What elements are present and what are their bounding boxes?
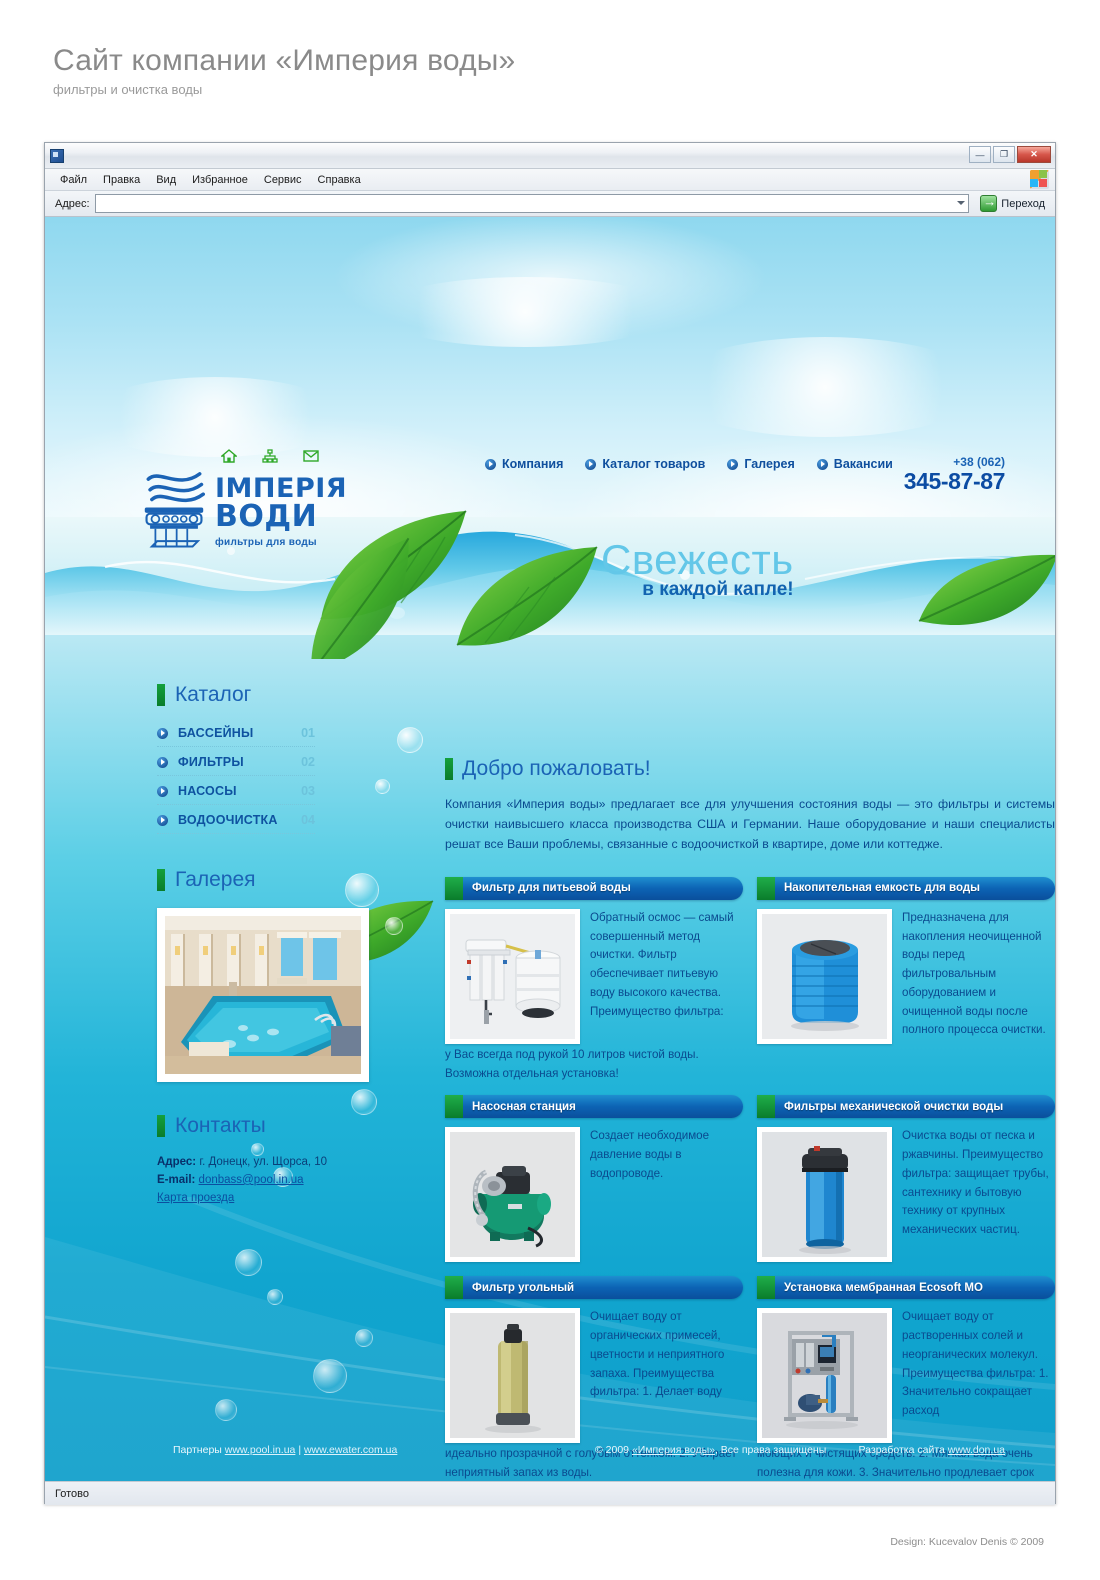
browser-menubar[interactable]: Файл Правка Вид Избранное Сервис Справка xyxy=(45,169,1055,191)
partner-link-ewater[interactable]: www.ewater.com.ua xyxy=(304,1444,397,1456)
developer-link[interactable]: www.don.ua xyxy=(948,1444,1005,1456)
product-image-reverse-osmosis[interactable] xyxy=(450,914,575,1039)
card-title: Установка мембранная Ecosoft MO xyxy=(775,1282,983,1294)
catalog-item-pumps[interactable]: НАСОСЫ 03 xyxy=(157,781,315,805)
product-card[interactable]: Фильтры механической очистки воды xyxy=(757,1095,1055,1264)
cloud-shape xyxy=(665,337,985,437)
address-label: Адрес: xyxy=(49,198,90,210)
contacts-heading: Контакты xyxy=(45,1114,375,1138)
phone-prefix: +38 (062) xyxy=(904,455,1005,469)
page-heading: Сайт компании «Империя воды» фильтры и о… xyxy=(53,44,515,97)
footer-partners: Партнеры www.pool.in.ua | www.ewater.com… xyxy=(173,1444,397,1456)
copyright-prefix: © 2009 xyxy=(595,1444,632,1456)
catalog-item-label: ФИЛЬТРЫ xyxy=(178,755,291,769)
partners-label: Партнеры xyxy=(173,1444,222,1456)
cloud-shape xyxy=(375,277,675,347)
utility-icons[interactable] xyxy=(221,449,319,463)
gallery-heading-label: Галерея xyxy=(175,868,256,892)
card-header-tab xyxy=(445,1095,463,1118)
card-header-tab xyxy=(757,1276,775,1299)
contact-address-row: Адрес: г. Донецк, ул. Щорса, 10 xyxy=(157,1154,375,1172)
card-description: Создает необходимое давление воды в водо… xyxy=(590,1127,743,1262)
menu-item-help[interactable]: Справка xyxy=(311,172,368,188)
card-header: Накопительная емкость для воды xyxy=(757,877,1055,900)
gallery-thumbnail[interactable] xyxy=(157,908,369,1082)
product-card[interactable]: Насосная станция xyxy=(445,1095,743,1264)
gallery-heading: Галерея xyxy=(45,868,375,892)
catalog-item-filters[interactable]: ФИЛЬТРЫ 02 xyxy=(157,752,315,776)
site-footer: Партнеры www.pool.in.ua | www.ewater.com… xyxy=(45,1419,1055,1481)
catalog-item-water-treatment[interactable]: ВОДООЧИСТКА 04 xyxy=(157,810,315,834)
catalog-item-number: 04 xyxy=(301,813,315,827)
bubble xyxy=(375,779,390,794)
catalog-item-label: БАССЕЙНЫ xyxy=(178,726,291,740)
card-title: Фильтры механической очистки воды xyxy=(775,1101,1003,1113)
card-header-tab xyxy=(757,1095,775,1118)
play-bullet-icon xyxy=(817,459,828,470)
email-label: E-mail: xyxy=(157,1174,195,1186)
catalog-item-pools[interactable]: БАССЕЙНЫ 01 xyxy=(157,723,315,747)
site-logo[interactable]: ІМПЕРІЯ ВОДИ фильтры для воды xyxy=(143,465,347,550)
address-input-wrap[interactable] xyxy=(95,194,970,213)
card-title: Фильтр угольный xyxy=(463,1282,574,1294)
catalog-list[interactable]: БАССЕЙНЫ 01 ФИЛЬТРЫ 02 НАСОСЫ 03 ВОДООЧИ… xyxy=(45,723,315,834)
welcome-heading-label: Добро пожаловать! xyxy=(462,757,651,781)
slogan-line-1: Свежесть xyxy=(601,539,794,581)
card-body: Создает необходимое давление воды в водо… xyxy=(445,1118,743,1262)
page-title: Сайт компании «Империя воды» xyxy=(53,44,515,78)
card-header-tab xyxy=(445,1276,463,1299)
browser-window: — ❐ ✕ Файл Правка Вид Избранное Сервис С… xyxy=(44,142,1056,1504)
catalog-item-label: ВОДООЧИСТКА xyxy=(178,813,291,827)
play-bullet-icon xyxy=(485,459,496,470)
browser-addressbar[interactable]: Адрес: Переход xyxy=(45,191,1055,217)
play-bullet-icon xyxy=(157,728,168,739)
play-bullet-icon xyxy=(157,815,168,826)
partner-link-pool[interactable]: www.pool.in.ua xyxy=(225,1444,296,1456)
card-title: Накопительная емкость для воды xyxy=(775,882,980,894)
nav-label: Вакансии xyxy=(834,457,893,471)
sidebar: Каталог БАССЕЙНЫ 01 ФИЛЬТРЫ 02 НАСОСЫ 03 xyxy=(45,683,375,1207)
card-thumbnail[interactable] xyxy=(445,909,580,1044)
catalog-item-number: 03 xyxy=(301,784,315,798)
section-marker xyxy=(157,1115,165,1137)
column-waves-logo-icon xyxy=(143,465,205,550)
go-button[interactable]: Переход xyxy=(974,195,1051,212)
product-card[interactable]: Накопительная емкость для воды xyxy=(757,877,1055,1084)
close-button[interactable]: ✕ xyxy=(1017,146,1051,163)
map-link[interactable]: Карта проезда xyxy=(157,1192,234,1204)
card-thumbnail[interactable] xyxy=(757,909,892,1044)
play-bullet-icon xyxy=(727,459,738,470)
card-thumbnail[interactable] xyxy=(445,1127,580,1262)
leaf-decoration xyxy=(907,545,1055,655)
menu-item-tools[interactable]: Сервис xyxy=(257,172,309,188)
footer-copyright: © 2009 «Империя воды», Все права защищен… xyxy=(595,1444,826,1456)
main-navigation[interactable]: Компания Каталог товаров Галерея Ваканси… xyxy=(485,457,893,471)
address-label: Адрес: xyxy=(157,1156,196,1168)
phone-number: 345-87-87 xyxy=(904,469,1005,493)
page-subtitle: фильтры и очистка воды xyxy=(53,82,515,97)
catalog-item-label: НАСОСЫ xyxy=(178,784,291,798)
browser-statusbar: Готово xyxy=(45,1481,1055,1505)
minimize-button[interactable]: — xyxy=(969,146,991,163)
home-icon[interactable] xyxy=(221,449,237,463)
menu-item-file[interactable]: Файл xyxy=(53,172,94,188)
leaf-decoration xyxy=(437,535,627,685)
catalog-heading: Каталог xyxy=(45,683,375,707)
pool-photo[interactable] xyxy=(165,916,361,1074)
card-body: Обратный осмос — самый совершенный метод… xyxy=(445,900,743,1044)
product-card[interactable]: Фильтр для питьевой воды xyxy=(445,877,743,1084)
contact-map-row: Карта проезда xyxy=(157,1190,375,1208)
windows-flag-icon xyxy=(1030,170,1049,189)
contact-phone: +38 (062) 345-87-87 xyxy=(904,455,1005,493)
logo-text: ІМПЕРІЯ ВОДИ фильтры для воды xyxy=(215,476,347,550)
contact-email-row: E-mail: donbass@pool.in.ua xyxy=(157,1172,375,1190)
card-title: Фильтр для питьевой воды xyxy=(463,882,631,894)
card-body: Очистка воды от песка и ржавчины. Преиму… xyxy=(757,1118,1055,1262)
go-arrow-icon[interactable] xyxy=(980,195,997,212)
nav-label: Каталог товаров xyxy=(602,457,705,471)
site-viewport: ІМПЕРІЯ ВОДИ фильтры для воды Компания К… xyxy=(45,217,1055,1481)
card-header-tab xyxy=(445,877,463,900)
product-image-pump-station[interactable] xyxy=(450,1132,575,1257)
card-title: Насосная станция xyxy=(463,1101,576,1113)
bubble xyxy=(397,727,423,753)
card-description: Предназначена для накопления неочищенной… xyxy=(902,909,1055,1044)
nav-item-gallery[interactable]: Галерея xyxy=(727,457,794,471)
window-buttons[interactable]: — ❐ ✕ xyxy=(969,146,1051,163)
product-image-cartridge-housing[interactable] xyxy=(762,1132,887,1257)
contacts-heading-label: Контакты xyxy=(175,1114,266,1138)
play-bullet-icon xyxy=(585,459,596,470)
developer-label: Разработка сайта xyxy=(859,1444,948,1456)
card-description: Очистка воды от песка и ржавчины. Преиму… xyxy=(902,1127,1055,1262)
card-thumbnail[interactable] xyxy=(757,1127,892,1262)
nav-item-vacancies[interactable]: Вакансии xyxy=(817,457,893,471)
card-header: Установка мембранная Ecosoft MO xyxy=(757,1276,1055,1299)
card-header-tab xyxy=(757,877,775,900)
catalog-heading-label: Каталог xyxy=(175,683,251,707)
catalog-item-number: 02 xyxy=(301,755,315,769)
section-marker xyxy=(445,758,453,780)
mail-icon[interactable] xyxy=(303,449,319,463)
main-content: Добро пожаловать! Компания «Империя воды… xyxy=(445,757,1055,1481)
design-credit: Design: Kucevalov Denis © 2009 xyxy=(890,1536,1044,1548)
footer-separator: | xyxy=(298,1444,301,1456)
email-link[interactable]: donbass@pool.in.ua xyxy=(199,1174,304,1186)
welcome-heading: Добро пожаловать! xyxy=(445,757,1055,781)
copyright-company-link[interactable]: «Империя воды» xyxy=(632,1444,715,1456)
go-button-label: Переход xyxy=(1001,198,1045,210)
browser-titlebar: — ❐ ✕ xyxy=(45,143,1055,169)
chevron-down-icon[interactable] xyxy=(957,201,965,205)
card-description: Обратный осмос — самый совершенный метод… xyxy=(590,909,743,1044)
status-text: Готово xyxy=(55,1488,89,1500)
section-marker xyxy=(157,684,165,706)
nav-label: Компания xyxy=(502,457,563,471)
copyright-suffix: , Все права защищены xyxy=(715,1444,826,1456)
logo-line-2: ВОДИ xyxy=(215,502,347,532)
menu-item-favorites[interactable]: Избранное xyxy=(185,172,255,188)
nav-label: Галерея xyxy=(744,457,794,471)
product-image-water-tank[interactable] xyxy=(762,914,887,1039)
intro-paragraph: Компания «Империя воды» предлагает все д… xyxy=(445,795,1055,855)
hero-slogan: Свежесть в каждой капле! xyxy=(601,539,794,601)
contacts-block: Адрес: г. Донецк, ул. Щорса, 10 E-mail: … xyxy=(45,1154,375,1207)
address-input[interactable] xyxy=(96,195,969,212)
sitemap-icon[interactable] xyxy=(262,449,278,463)
card-body: Предназначена для накопления неочищенной… xyxy=(757,900,1055,1044)
address-value: г. Донецк, ул. Щорса, 10 xyxy=(199,1156,327,1168)
card-header: Насосная станция xyxy=(445,1095,743,1118)
footer-developer: Разработка сайта www.don.ua xyxy=(859,1444,1006,1456)
card-header: Фильтр угольный xyxy=(445,1276,743,1299)
maximize-button[interactable]: ❐ xyxy=(993,146,1015,163)
card-header: Фильтры механической очистки воды xyxy=(757,1095,1055,1118)
card-description-extra: у Вас всегда под рукой 10 литров чистой … xyxy=(445,1046,743,1084)
nav-item-company[interactable]: Компания xyxy=(485,457,563,471)
product-cards: Фильтр для питьевой воды xyxy=(445,877,1055,1481)
menu-item-view[interactable]: Вид xyxy=(149,172,183,188)
nav-item-catalog[interactable]: Каталог товаров xyxy=(585,457,705,471)
menu-item-edit[interactable]: Правка xyxy=(96,172,147,188)
card-header: Фильтр для питьевой воды xyxy=(445,877,743,900)
cloud-shape xyxy=(85,377,345,457)
play-bullet-icon xyxy=(157,757,168,768)
section-marker xyxy=(157,869,165,891)
play-bullet-icon xyxy=(157,786,168,797)
catalog-item-number: 01 xyxy=(301,726,315,740)
logo-tagline: фильтры для воды xyxy=(215,537,347,548)
app-icon xyxy=(50,149,64,163)
